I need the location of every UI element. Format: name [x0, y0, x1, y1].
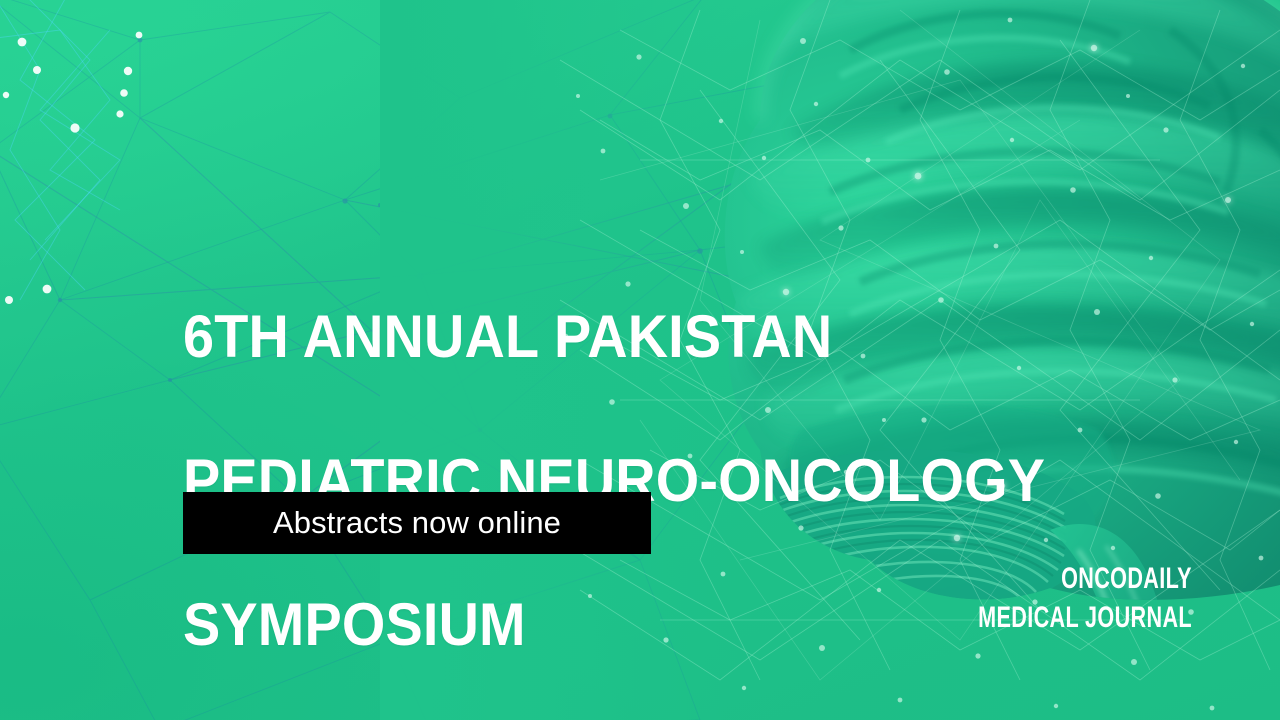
oncodaily-logo: ONCODAILY MEDICAL JOURNAL — [895, 564, 1192, 633]
abstracts-cta-badge[interactable]: Abstracts now online — [183, 492, 651, 554]
cta-label: Abstracts now online — [273, 507, 561, 538]
brand-name: ONCODAILY — [978, 564, 1192, 594]
headline-line-1: 6TH ANNUAL PAKISTAN — [183, 301, 1067, 373]
page-title: 6TH ANNUAL PAKISTAN PEDIATRIC NEURO-ONCO… — [183, 229, 1067, 720]
event-banner: 6TH ANNUAL PAKISTAN PEDIATRIC NEURO-ONCO… — [0, 0, 1280, 720]
brand-subtitle: MEDICAL JOURNAL — [978, 603, 1192, 633]
banner-content: 6TH ANNUAL PAKISTAN PEDIATRIC NEURO-ONCO… — [0, 0, 1280, 720]
